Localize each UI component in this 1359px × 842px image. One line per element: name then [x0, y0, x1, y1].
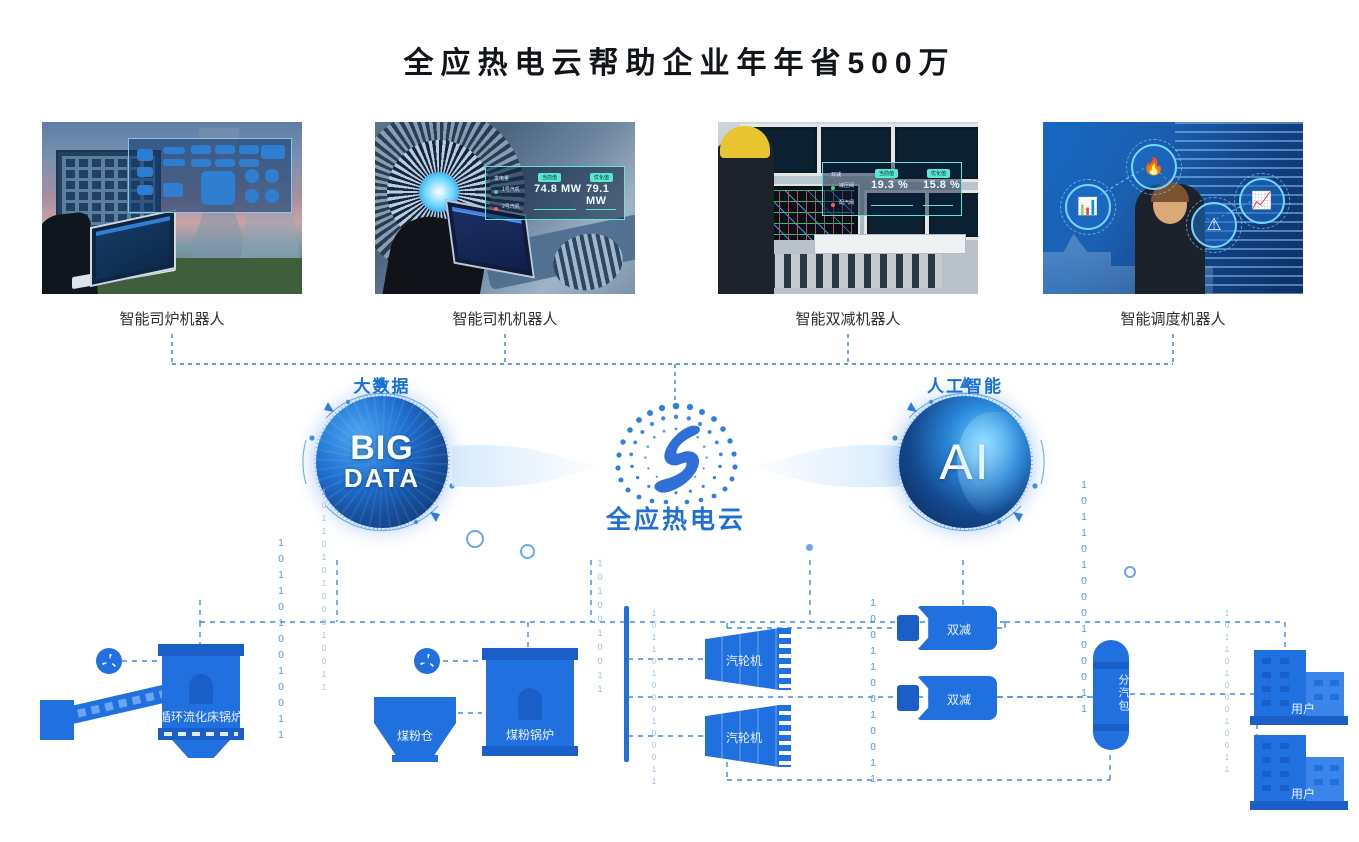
coal-hopper-label: 煤粉仓 — [374, 727, 456, 744]
chart-search-icon: 📊 — [1065, 184, 1111, 230]
turbine-2-label: 汽轮机 — [711, 729, 777, 746]
slider-track-2 — [923, 205, 953, 206]
hmi-compare-overlay: 发电量 当前值 优化值 1号汽机 74.8 MW 79.1 MW 2号汽机 — [485, 166, 625, 220]
deco-ring-3 — [1124, 566, 1136, 578]
photo-caption-3: 智能双减机器人 — [718, 308, 978, 329]
photo-caption-2: 智能司机机器人 — [375, 308, 635, 329]
keyboard — [814, 234, 966, 254]
coal-feed-box — [40, 700, 74, 740]
overlay-tag-current: 当前值 — [875, 169, 898, 178]
reducer-1-label: 双减 — [927, 621, 991, 638]
ai-orb[interactable]: AI — [875, 372, 1055, 552]
photo-card-2[interactable]: 发电量 当前值 优化值 1号汽机 74.8 MW 79.1 MW 2号汽机 — [375, 122, 635, 294]
deco-ring-1 — [466, 530, 484, 548]
turbine-1[interactable]: 汽轮机 — [705, 628, 791, 690]
user-2-label: 用户 — [1254, 785, 1352, 802]
deco-dot-1 — [806, 544, 813, 551]
photo-card-3[interactable]: 双减 当前值 优化值 减压阀 19.3 % 15.8 % 配汽阀 — [718, 122, 978, 294]
alarm-icon: ⚠ — [1191, 202, 1237, 248]
overlay-row-1-optimal: 15.8 % — [923, 179, 960, 191]
fan-icon-pulverized[interactable] — [414, 648, 440, 674]
bigdata-sphere: BIG DATA — [316, 396, 448, 528]
pulverized-boiler[interactable]: 煤粉锅炉 — [482, 648, 578, 758]
ai-text: AI — [939, 433, 990, 491]
binary-column-mid: 1010010011 — [594, 556, 606, 696]
overlay-row-2-name: 2号汽机 — [502, 203, 520, 210]
slider-track-1 — [871, 205, 913, 206]
user-2[interactable]: 用户 — [1254, 735, 1352, 811]
overlay-row-2-name: 配汽阀 — [839, 199, 854, 206]
binary-column-far: 10110100010011 — [1221, 608, 1233, 776]
reducer-2[interactable]: 双减 — [897, 676, 999, 720]
hmi-compare-overlay: 双减 当前值 优化值 减压阀 19.3 % 15.8 % 配汽阀 — [822, 162, 962, 216]
steam-drum[interactable]: 分汽包 — [1093, 640, 1129, 750]
hmi-schematic-overlay — [128, 138, 292, 213]
photo-smart-turbine-operator: 发电量 当前值 优化值 1号汽机 74.8 MW 79.1 MW 2号汽机 — [375, 122, 635, 294]
bigdata-line-2: DATA — [344, 465, 420, 492]
steam-drum-label: 分汽包 — [1093, 674, 1129, 713]
status-dot-ok — [831, 186, 835, 190]
overlay-row-title: 发电量 — [494, 175, 509, 182]
deco-ring-2 — [520, 544, 535, 559]
pulverized-boiler-label: 煤粉锅炉 — [482, 726, 578, 743]
overlay-row-1-name: 1号汽机 — [502, 186, 520, 193]
photo-card-1[interactable] — [42, 122, 302, 294]
infographic-root: 全应热电云帮助企业年年省500万 — [0, 0, 1359, 842]
slider-track-1 — [534, 209, 576, 210]
binary-column-right: 101101000100011 — [1077, 478, 1091, 718]
operator-silhouette — [718, 140, 774, 294]
bigdata-line-1: BIG — [350, 432, 413, 464]
status-dot-alarm — [494, 207, 498, 211]
monitor-wave-icon: 📈 — [1239, 178, 1285, 224]
cfb-boiler[interactable]: 循环流化床锅炉 — [158, 644, 244, 756]
turbine-2[interactable]: 汽轮机 — [705, 705, 791, 767]
binary-column-header: 101101000100011 — [648, 608, 660, 788]
overlay-row-title: 双减 — [831, 171, 841, 178]
ai-sphere: AI — [899, 396, 1031, 528]
ai-label: 人工智能 — [875, 372, 1055, 397]
user-1-label: 用户 — [1254, 700, 1352, 717]
flame-icon: 🔥 — [1131, 144, 1177, 190]
status-dot-ok — [494, 190, 498, 194]
binary-column-mid2: 100110010011 — [866, 596, 880, 788]
photo-caption-1: 智能司炉机器人 — [42, 308, 302, 329]
bigdata-label: 大数据 — [292, 372, 472, 397]
status-dot-alarm — [831, 203, 835, 207]
overlay-tag-current: 当前值 — [538, 173, 561, 182]
overlay-row-1-current: 74.8 MW — [534, 183, 582, 195]
button-panel — [752, 254, 942, 288]
overlay-row-1-current: 19.3 % — [871, 179, 908, 191]
photo-caption-4: 智能调度机器人 — [1043, 308, 1303, 329]
reducer-2-label: 双减 — [927, 691, 991, 708]
cloud-brand-name: 全应热电云 — [560, 500, 792, 536]
overlay-tag-optimal: 优化值 — [927, 169, 950, 178]
photo-control-room: 双减 当前值 优化值 减压阀 19.3 % 15.8 % 配汽阀 — [718, 122, 978, 294]
page-title: 全应热电云帮助企业年年省500万 — [0, 38, 1359, 82]
overlay-row-1-name: 减压阀 — [839, 182, 854, 189]
reducer-1[interactable]: 双减 — [897, 606, 999, 650]
slider-track-2 — [586, 209, 616, 210]
turbine-1-label: 汽轮机 — [711, 652, 777, 669]
overlay-tag-optimal: 优化值 — [590, 173, 613, 182]
overlay-row-1-optimal: 79.1 MW — [586, 183, 624, 207]
steam-header-bar — [624, 606, 629, 762]
photo-smart-dispatch: 📊 🔥 ⚠ 📈 — [1043, 122, 1303, 294]
cfb-boiler-label: 循环流化床锅炉 — [158, 708, 244, 725]
photo-card-4[interactable]: 📊 🔥 ⚠ 📈 — [1043, 122, 1303, 294]
fan-icon-cfb[interactable] — [96, 648, 122, 674]
user-1[interactable]: 用户 — [1254, 650, 1352, 726]
binary-column-left: 1011010010011 — [274, 536, 288, 744]
photo-smart-boiler-operator — [42, 122, 302, 294]
binary-column-boiler: 1011010100010011 — [318, 486, 330, 694]
coal-hopper[interactable]: 煤粉仓 — [374, 697, 456, 765]
